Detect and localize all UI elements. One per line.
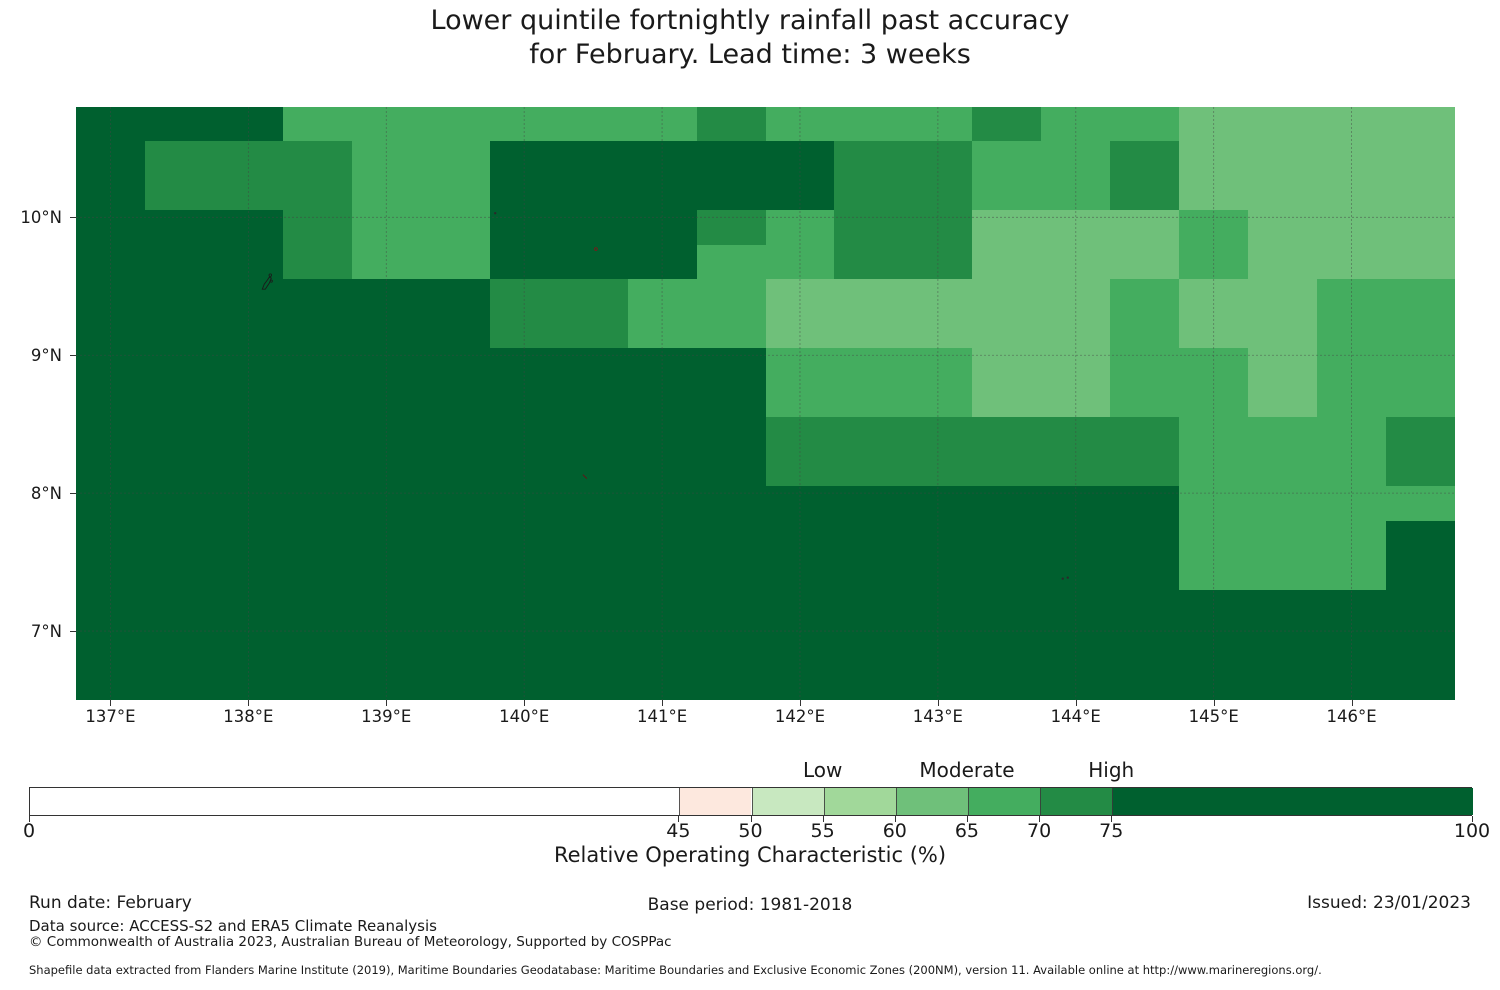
y-axis-tick-mark [70, 355, 76, 356]
heatmap-cell [628, 452, 698, 487]
colorbar-segment-divider [679, 788, 680, 815]
heatmap-cell [352, 107, 422, 142]
colorbar-segment [752, 788, 824, 815]
heatmap-cell [352, 659, 422, 700]
heatmap-cell [1041, 417, 1111, 452]
heatmap-cell [903, 417, 973, 452]
heatmap-cell [903, 659, 973, 700]
heatmap-cell [972, 486, 1042, 521]
heatmap-cell [1179, 210, 1249, 245]
title-line-1: Lower quintile fortnightly rainfall past… [0, 4, 1500, 38]
page-title: Lower quintile fortnightly rainfall past… [0, 4, 1500, 72]
heatmap-cell [76, 383, 146, 418]
heatmap-cell [834, 659, 904, 700]
heatmap-cell [1041, 176, 1111, 211]
heatmap-cell [972, 555, 1042, 590]
heatmap-cell [1317, 210, 1387, 245]
heatmap-cell [1386, 348, 1455, 383]
heatmap-cell [766, 521, 836, 556]
heatmap-cell [1110, 141, 1180, 176]
heatmap-cell [145, 107, 215, 142]
heatmap-cell [1041, 659, 1111, 700]
heatmap-cell [490, 279, 560, 314]
heatmap-cell [559, 279, 629, 314]
heatmap-cell [1041, 245, 1111, 280]
heatmap-cell [834, 245, 904, 280]
heatmap-cell [697, 590, 767, 625]
heatmap-cell [421, 624, 491, 659]
x-axis-tick-mark [1076, 700, 1077, 706]
heatmap-cell [352, 555, 422, 590]
heatmap-cell [1386, 624, 1455, 659]
heatmap-cell [834, 521, 904, 556]
heatmap-cell [834, 452, 904, 487]
colorbar-tick-label: 75 [1066, 820, 1156, 842]
heatmap-cell [697, 417, 767, 452]
heatmap-cell [697, 314, 767, 349]
heatmap-cell [214, 314, 284, 349]
heatmap-cell [1041, 279, 1111, 314]
heatmap-cell [1317, 521, 1387, 556]
colorbar [29, 787, 1472, 816]
heatmap-cell [903, 624, 973, 659]
heatmap-cell [766, 624, 836, 659]
heatmap-cell [421, 141, 491, 176]
heatmap-cell [559, 383, 629, 418]
heatmap-cell [490, 383, 560, 418]
heatmap-cell [1248, 486, 1318, 521]
heatmap-cell [352, 486, 422, 521]
heatmap-cell [766, 107, 836, 142]
colorbar-title: Relative Operating Characteristic (%) [0, 843, 1500, 867]
heatmap-cell [628, 659, 698, 700]
heatmap-cell [697, 348, 767, 383]
heatmap-cell [903, 210, 973, 245]
colorbar-segment-divider [752, 788, 753, 815]
heatmap-cell [1110, 279, 1180, 314]
heatmap-cell [214, 452, 284, 487]
heatmap-cell [628, 348, 698, 383]
heatmap-cell [1317, 383, 1387, 418]
heatmap-cell [76, 624, 146, 659]
heatmap-cell [628, 210, 698, 245]
x-axis-tick-label: 139°E [326, 707, 446, 726]
heatmap-cell [1386, 245, 1455, 280]
heatmap-cell [559, 245, 629, 280]
heatmap-cell [903, 348, 973, 383]
heatmap-cell [1179, 521, 1249, 556]
heatmap-cell [1317, 486, 1387, 521]
heatmap-cell [766, 486, 836, 521]
heatmap-cell [283, 383, 353, 418]
heatmap-cell [352, 314, 422, 349]
x-axis-tick-mark [800, 700, 801, 706]
heatmap-cell [766, 452, 836, 487]
heatmap-cell [697, 107, 767, 142]
heatmap-cell [559, 659, 629, 700]
heatmap-cell [559, 555, 629, 590]
x-axis-tick-mark [386, 700, 387, 706]
heatmap-cell [903, 245, 973, 280]
heatmap-cell [903, 314, 973, 349]
heatmap-cell [559, 210, 629, 245]
heatmap-cell [766, 590, 836, 625]
heatmap-cell [283, 521, 353, 556]
heatmap-cell [903, 555, 973, 590]
heatmap-cell [1041, 624, 1111, 659]
heatmap-cell [76, 417, 146, 452]
x-axis-tick-label: 138°E [188, 707, 308, 726]
heatmap-cell [766, 176, 836, 211]
heatmap-cell [490, 590, 560, 625]
heatmap-cell [972, 659, 1042, 700]
heatmap-cell [559, 590, 629, 625]
heatmap-cell [1317, 590, 1387, 625]
heatmap-cell [1248, 279, 1318, 314]
heatmap-cell [697, 245, 767, 280]
heatmap-cell [972, 141, 1042, 176]
heatmap-cell [1317, 348, 1387, 383]
colorbar-segment-divider [896, 788, 897, 815]
heatmap-cell [283, 486, 353, 521]
heatmap-cell [283, 210, 353, 245]
heatmap-cell [1317, 176, 1387, 211]
heatmap-cell [421, 279, 491, 314]
heatmap-cell [972, 348, 1042, 383]
heatmap-cell [697, 521, 767, 556]
heatmap-cell [214, 348, 284, 383]
heatmap-cell [903, 486, 973, 521]
heatmap-cell [1317, 314, 1387, 349]
heatmap-cell [903, 590, 973, 625]
heatmap-cell [559, 176, 629, 211]
heatmap-cell [145, 486, 215, 521]
x-axis-tick-label: 144°E [1016, 707, 1136, 726]
title-line-2: for February. Lead time: 3 weeks [0, 38, 1500, 72]
heatmap-cell [1317, 141, 1387, 176]
heatmap-cell [559, 486, 629, 521]
heatmap-cell [1041, 210, 1111, 245]
heatmap-cell [1248, 348, 1318, 383]
heatmap-cell [697, 555, 767, 590]
heatmap-cell [283, 141, 353, 176]
heatmap-cell [145, 452, 215, 487]
heatmap-cell [1248, 659, 1318, 700]
heatmap-cell [766, 279, 836, 314]
heatmap-cell [283, 348, 353, 383]
heatmap-cell [145, 555, 215, 590]
heatmap-cell [903, 383, 973, 418]
heatmap-cell [559, 521, 629, 556]
heatmap-cell [834, 141, 904, 176]
heatmap-cell [214, 521, 284, 556]
heatmap-cell [283, 176, 353, 211]
heatmap-cell [76, 314, 146, 349]
heatmap-cell [1386, 486, 1455, 521]
heatmap-cell [214, 590, 284, 625]
heatmap-cell [76, 210, 146, 245]
heatmap-cell [1386, 452, 1455, 487]
heatmap-cell [283, 659, 353, 700]
heatmap-cell [628, 417, 698, 452]
heatmap-cell [1179, 348, 1249, 383]
x-axis-tick-label: 142°E [740, 707, 860, 726]
y-axis-tick-label: 10°N [2, 208, 62, 227]
heatmap-cell [834, 417, 904, 452]
heatmap-cell [559, 417, 629, 452]
heatmap-cell [1110, 521, 1180, 556]
heatmap-cell [1248, 624, 1318, 659]
heatmap-cell [283, 279, 353, 314]
heatmap-cell [214, 245, 284, 280]
heatmap-cell [1248, 314, 1318, 349]
heatmap-cell [972, 417, 1042, 452]
heatmap-cell [76, 659, 146, 700]
heatmap-cell [1110, 176, 1180, 211]
heatmap-cell [903, 141, 973, 176]
heatmap-cell [1248, 245, 1318, 280]
heatmap-cell [214, 486, 284, 521]
x-axis-tick-label: 143°E [878, 707, 998, 726]
heatmap-cell [903, 521, 973, 556]
heatmap-cell [559, 624, 629, 659]
heatmap-cell [697, 383, 767, 418]
heatmap-cell [145, 245, 215, 280]
heatmap-cell [972, 624, 1042, 659]
heatmap-cell [1110, 452, 1180, 487]
heatmap-cell [1317, 452, 1387, 487]
x-axis-tick-mark [662, 700, 663, 706]
heatmap-cell [421, 452, 491, 487]
heatmap-cell [421, 417, 491, 452]
heatmap-cell [766, 348, 836, 383]
y-axis-tick-mark [70, 493, 76, 494]
heatmap-cell [214, 176, 284, 211]
heatmap-cell [76, 521, 146, 556]
heatmap-cell [1110, 659, 1180, 700]
heatmap-cell [766, 141, 836, 176]
heatmap-cell [1179, 659, 1249, 700]
colorbar-segment [1112, 788, 1473, 815]
heatmap-cell [352, 521, 422, 556]
heatmap-cell [1386, 417, 1455, 452]
heatmap-cell [1179, 107, 1249, 142]
heatmap-cell [283, 590, 353, 625]
heatmap-cell [559, 314, 629, 349]
heatmap-cell [145, 590, 215, 625]
heatmap-cell [421, 210, 491, 245]
heatmap-cell [1386, 141, 1455, 176]
heatmap-cell [766, 417, 836, 452]
heatmap-cell [1248, 176, 1318, 211]
colorbar-segment-divider [1112, 788, 1113, 815]
heatmap-cell [1110, 210, 1180, 245]
heatmap-cell [1386, 383, 1455, 418]
heatmap-cell [559, 141, 629, 176]
heatmap-cell [697, 659, 767, 700]
heatmap-cell [972, 314, 1042, 349]
heatmap-cell [490, 417, 560, 452]
heatmap-cell [1386, 659, 1455, 700]
heatmap-cell [490, 486, 560, 521]
heatmap-cell [214, 659, 284, 700]
heatmap-cell [1179, 314, 1249, 349]
heatmap-cell [1041, 141, 1111, 176]
heatmap-cells [76, 107, 1455, 700]
heatmap-cell [352, 245, 422, 280]
x-axis-tick-mark [938, 700, 939, 706]
heatmap-cell [1386, 314, 1455, 349]
y-axis-tick-mark [70, 631, 76, 632]
heatmap-cell [1317, 245, 1387, 280]
colorbar-segment [824, 788, 896, 815]
heatmap-cell [214, 279, 284, 314]
heatmap-cell [972, 210, 1042, 245]
heatmap-cell [490, 521, 560, 556]
heatmap-cell [628, 107, 698, 142]
heatmap-cell [1386, 279, 1455, 314]
heatmap-cell [76, 107, 146, 142]
heatmap-cell [972, 176, 1042, 211]
heatmap-cell [1317, 417, 1387, 452]
heatmap-cell [766, 314, 836, 349]
colorbar-segment [968, 788, 1040, 815]
heatmap-cell [352, 141, 422, 176]
heatmap-cell [1248, 107, 1318, 142]
heatmap-cell [76, 590, 146, 625]
y-axis-tick-label: 9°N [2, 346, 62, 365]
heatmap-cell [1386, 521, 1455, 556]
heatmap-cell [628, 141, 698, 176]
heatmap-cell [628, 383, 698, 418]
heatmap-cell [1386, 210, 1455, 245]
heatmap-cell [421, 314, 491, 349]
heatmap-cell [145, 314, 215, 349]
heatmap-cell [1179, 383, 1249, 418]
heatmap-cell [214, 417, 284, 452]
heatmap-cell [766, 245, 836, 280]
heatmap-cell [490, 210, 560, 245]
heatmap-cell [1248, 452, 1318, 487]
heatmap-cell [903, 107, 973, 142]
footer-shapefile-attribution: Shapefile data extracted from Flanders M… [29, 963, 1322, 977]
heatmap-cell [214, 210, 284, 245]
heatmap-cell [834, 590, 904, 625]
heatmap-cell [352, 417, 422, 452]
colorbar-category-label: High [1011, 758, 1211, 782]
heatmap-cell [972, 279, 1042, 314]
footer-base-period: Base period: 1981-2018 [0, 895, 1500, 915]
heatmap-cell [1110, 590, 1180, 625]
heatmap-cell [352, 176, 422, 211]
heatmap-cell [214, 383, 284, 418]
heatmap-cell [145, 176, 215, 211]
x-axis-tick-mark [1352, 700, 1353, 706]
heatmap-cell [1179, 486, 1249, 521]
heatmap-cell [559, 107, 629, 142]
heatmap-cell [283, 107, 353, 142]
heatmap-cell [1386, 107, 1455, 142]
heatmap-cell [972, 245, 1042, 280]
heatmap-cell [1110, 348, 1180, 383]
heatmap-cell [766, 383, 836, 418]
heatmap-cell [697, 486, 767, 521]
heatmap-cell [628, 590, 698, 625]
heatmap-cell [490, 245, 560, 280]
heatmap-cell [697, 452, 767, 487]
heatmap-cell [1110, 383, 1180, 418]
heatmap-cell [1386, 176, 1455, 211]
heatmap-cell [1179, 590, 1249, 625]
heatmap-cell [1110, 624, 1180, 659]
heatmap-cell [352, 383, 422, 418]
heatmap-cell [490, 107, 560, 142]
heatmap-cell [1041, 486, 1111, 521]
heatmap-cell [1248, 210, 1318, 245]
heatmap-cell [628, 245, 698, 280]
heatmap-cell [490, 452, 560, 487]
heatmap-cell [834, 348, 904, 383]
heatmap-cell [490, 141, 560, 176]
heatmap-cell [697, 176, 767, 211]
heatmap-cell [559, 452, 629, 487]
colorbar-segment [679, 788, 751, 815]
heatmap-cell [1041, 314, 1111, 349]
heatmap-cell [1179, 279, 1249, 314]
heatmap-cell [1179, 176, 1249, 211]
heatmap-cell [421, 348, 491, 383]
heatmap-cell [421, 486, 491, 521]
heatmap-cell [1179, 452, 1249, 487]
heatmap-cell [145, 348, 215, 383]
heatmap-cell [1041, 521, 1111, 556]
heatmap-cell [834, 383, 904, 418]
colorbar-tick-label: 100 [1427, 820, 1500, 842]
heatmap-cell [1110, 314, 1180, 349]
heatmap-cell [1386, 590, 1455, 625]
heatmap-cell [1317, 624, 1387, 659]
heatmap-cell [903, 279, 973, 314]
heatmap-cell [903, 452, 973, 487]
heatmap-cell [421, 176, 491, 211]
heatmap-cell [834, 107, 904, 142]
heatmap-cell [145, 521, 215, 556]
heatmap-cell [1179, 555, 1249, 590]
colorbar-segment-divider [824, 788, 825, 815]
heatmap-cell [697, 210, 767, 245]
y-axis-tick-label: 8°N [2, 484, 62, 503]
heatmap-cell [697, 624, 767, 659]
heatmap-cell [1179, 417, 1249, 452]
heatmap-cell [972, 521, 1042, 556]
x-axis-tick-label: 141°E [602, 707, 722, 726]
heatmap-cell [1110, 107, 1180, 142]
heatmap-cell [490, 348, 560, 383]
heatmap-cell [283, 555, 353, 590]
heatmap-cell [766, 659, 836, 700]
heatmap-cell [1110, 417, 1180, 452]
heatmap-cell [1317, 107, 1387, 142]
heatmap-cell [1041, 383, 1111, 418]
heatmap-cell [283, 245, 353, 280]
heatmap-cell [628, 279, 698, 314]
y-axis-tick-mark [70, 217, 76, 218]
y-axis-tick-label: 7°N [2, 622, 62, 641]
colorbar-segment [30, 788, 679, 815]
heatmap-cell [145, 417, 215, 452]
heatmap-cell [214, 624, 284, 659]
heatmap-cell [76, 279, 146, 314]
